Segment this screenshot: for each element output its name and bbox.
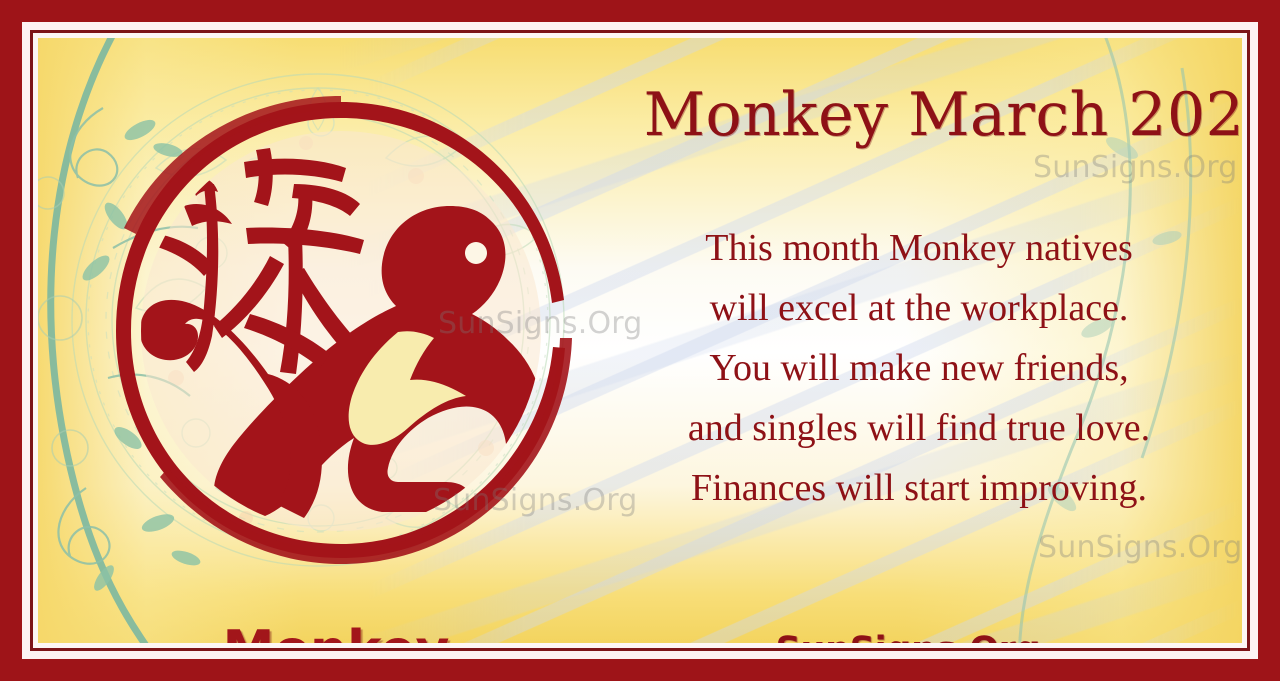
horoscope-line: This month Monkey natives (558, 218, 1242, 278)
horoscope-body-text: This month Monkey natives will excel at … (558, 218, 1242, 518)
zodiac-horoscope-card: SunSigns.Org SunSigns.Org SunSigns.Org S… (0, 0, 1280, 681)
brand-label: SunSigns.Org (718, 630, 1098, 643)
horoscope-line: Finances will start improving. (558, 458, 1242, 518)
page-title: Monkey March 2022 (583, 83, 1242, 147)
horoscope-line: You will make new friends, (558, 338, 1242, 398)
horoscope-line: will excel at the workplace. (558, 278, 1242, 338)
card-content-panel: SunSigns.Org SunSigns.Org SunSigns.Org S… (38, 38, 1242, 643)
monkey-zodiac-emblem (98, 88, 578, 578)
monkey-eye (465, 242, 487, 264)
horoscope-line: and singles will find true love. (558, 398, 1242, 458)
zodiac-sign-name: Monkey (156, 620, 516, 643)
